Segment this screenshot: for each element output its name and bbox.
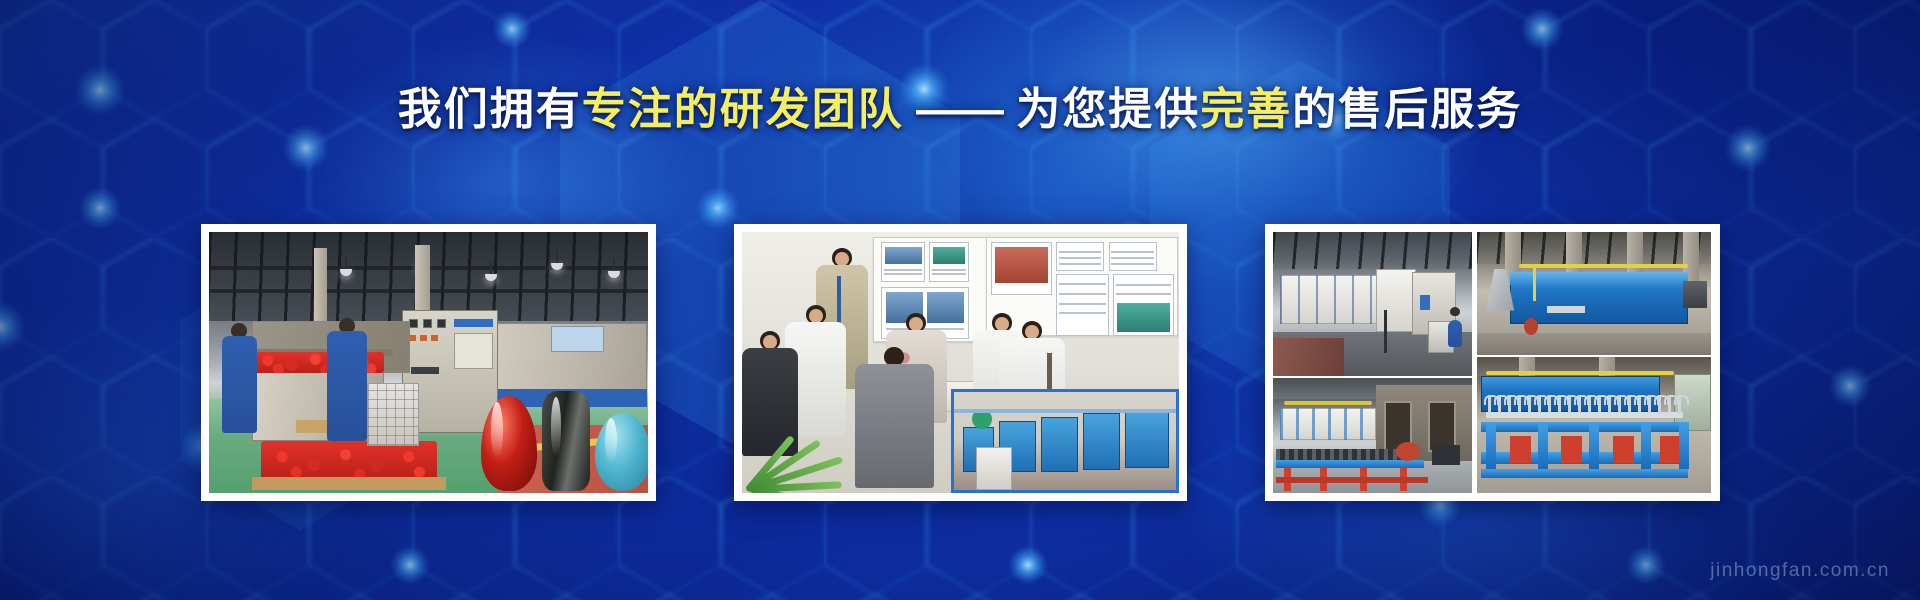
worker-figure [222, 323, 257, 433]
collage-cell-conveyor [1273, 378, 1473, 493]
collage-cell-blue-furnace [1477, 232, 1712, 355]
photo-production-line [209, 232, 648, 493]
headline-segment-5: 的售后服务 [1292, 85, 1522, 134]
banner-headline: 我们拥有专注的研发团队 —— 为您提供完善的售后服务 [0, 80, 1920, 140]
promo-banner: 我们拥有专注的研发团队 —— 为您提供完善的售后服务 [0, 0, 1920, 600]
worker-figure [327, 318, 367, 441]
site-watermark: jinhongfan.com.cn [1710, 560, 1890, 582]
collage-cell-hook-line [1477, 357, 1712, 493]
photo-equipment-collage [1273, 232, 1712, 493]
worker-figure [1448, 307, 1462, 347]
collage-cell-white-line [1273, 232, 1473, 376]
vase-black [542, 391, 590, 491]
headline-dash: —— [904, 85, 1016, 134]
photo-panel-production-line[interactable] [201, 224, 656, 501]
headline-segment-3: 为您提供 [1016, 85, 1200, 134]
photo-meeting-discussion [742, 232, 1179, 493]
inset-machinery-photo [951, 389, 1178, 493]
photo-panel-equipment-collage[interactable] [1265, 224, 1720, 501]
headline-segment-2: 专注的研发团队 [582, 85, 904, 134]
palm-plant [750, 383, 910, 493]
photo-panel-meeting[interactable] [734, 224, 1187, 501]
vase-blue [595, 413, 648, 491]
photo-panel-row [0, 224, 1920, 501]
headline-segment-4: 完善 [1200, 85, 1292, 134]
headline-segment-1: 我们拥有 [398, 85, 582, 134]
